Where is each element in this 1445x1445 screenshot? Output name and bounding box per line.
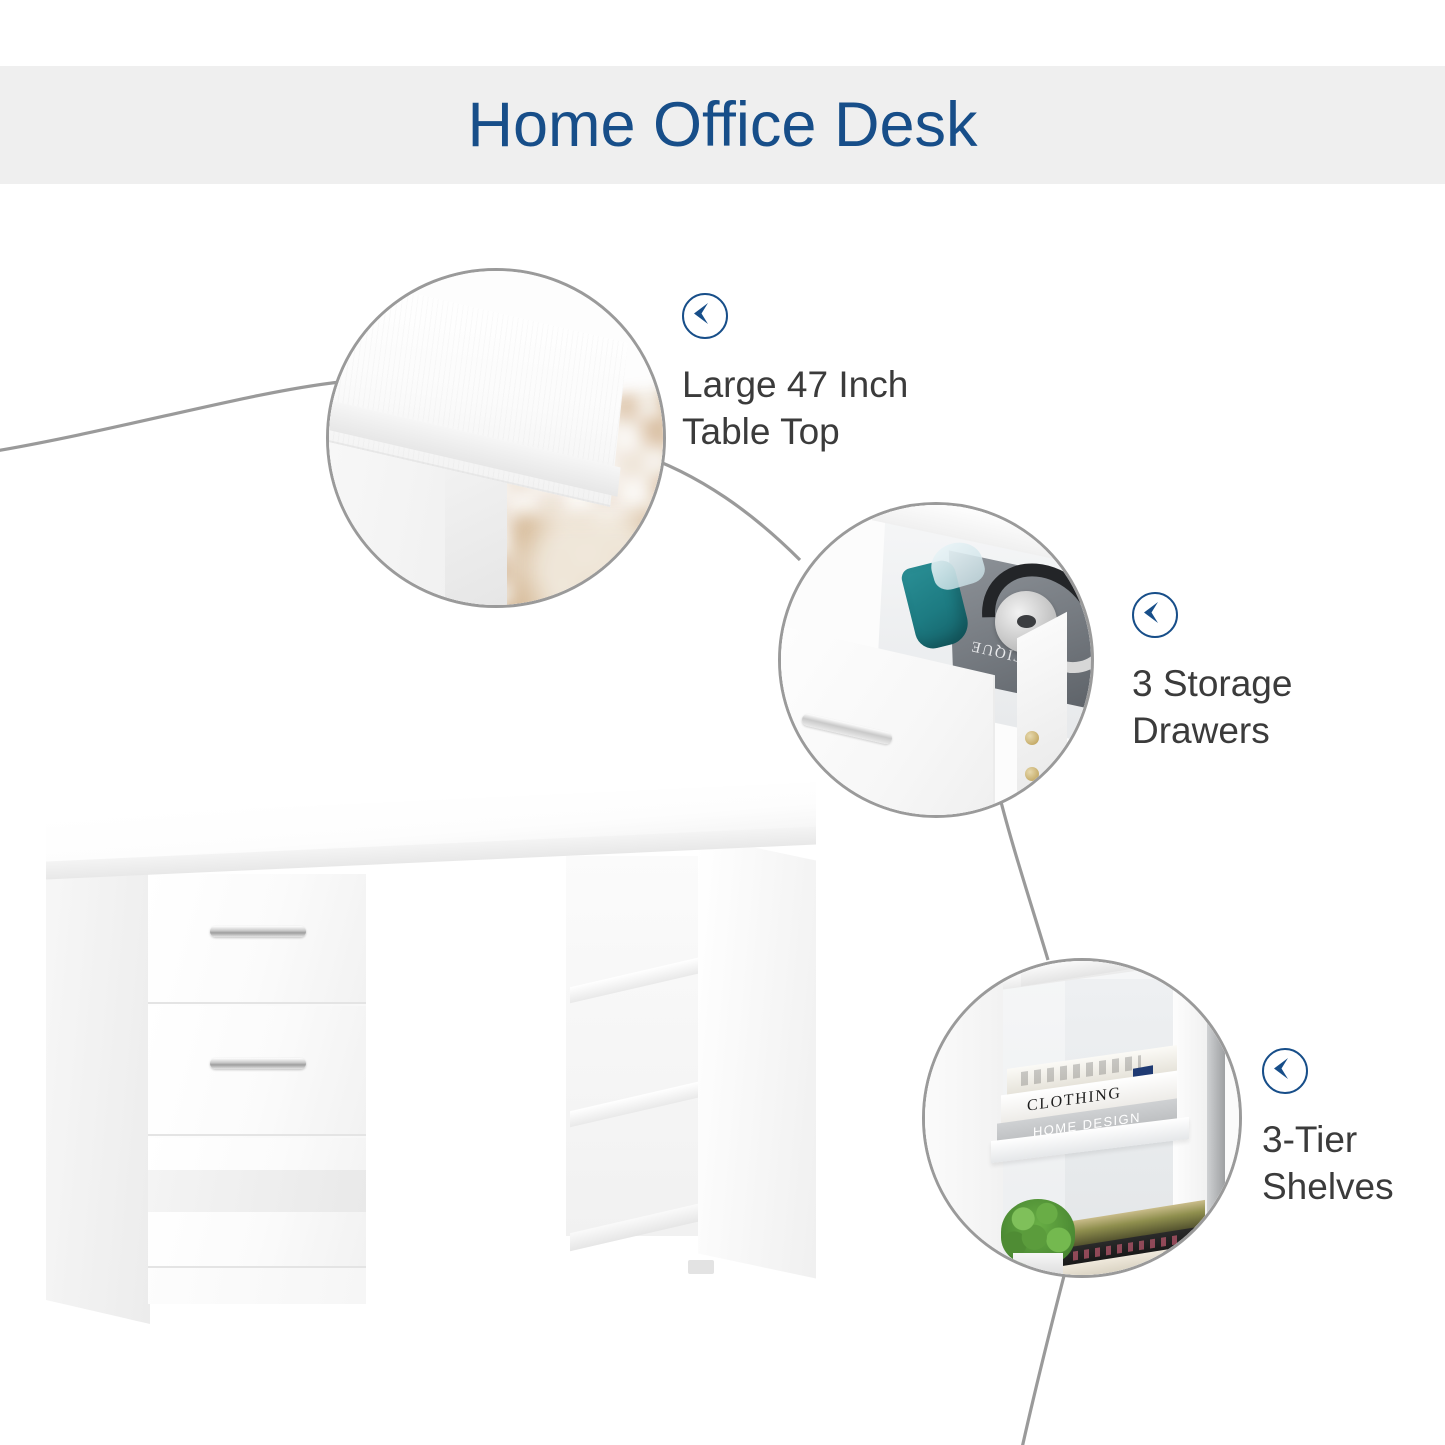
header-banner: Home Office Desk: [0, 66, 1445, 184]
product-image-desk: [28, 770, 838, 1340]
shelf-right-shadow: [1207, 1005, 1225, 1235]
open-drawer-photo-content: ANTIQUE: [781, 505, 1091, 815]
cabinet-screw: [1025, 767, 1039, 781]
detail-photo-shelves: CLOTHING HOME DESIGN: [922, 958, 1242, 1278]
drawer-top: [148, 874, 366, 1004]
desk-drawer-column: [148, 874, 366, 1304]
cabinet-screw: [1025, 731, 1039, 745]
desk-plinth: [148, 1170, 366, 1212]
connector-left-to-circle1: [0, 382, 340, 452]
arrow-left-circle-icon: [1132, 592, 1178, 638]
table-top-photo-content: [329, 271, 663, 605]
desk-foot: [688, 1260, 714, 1274]
desk-left-side-panel: [46, 820, 150, 1324]
drawer-middle: [148, 1006, 366, 1136]
arrow-left-circle-icon: [682, 293, 728, 339]
callout-table-top-label: Large 47 Inch Table Top: [682, 361, 908, 456]
callout-table-top: Large 47 Inch Table Top: [682, 293, 908, 456]
callout-tier-shelves-label: 3-Tier Shelves: [1262, 1116, 1394, 1211]
shelf-unit-right-panel: [698, 835, 816, 1278]
drawer-handle: [210, 1058, 306, 1069]
arrow-left-circle-icon: [1262, 1048, 1308, 1094]
callout-storage-drawers-label: 3 Storage Drawers: [1132, 660, 1292, 755]
desk-shelf-unit: [566, 856, 816, 1276]
callout-tier-shelves: 3-Tier Shelves: [1262, 1048, 1394, 1211]
shelf-left-panel: [925, 961, 1003, 1275]
shelf-unit-back: [566, 856, 704, 1236]
blurred-fabric-highlight: [513, 515, 663, 605]
connector-circle3-to-bottom: [1022, 1272, 1065, 1445]
shelves-photo-content: CLOTHING HOME DESIGN: [925, 961, 1239, 1275]
callout-storage-drawers: 3 Storage Drawers: [1132, 592, 1292, 755]
page-title: Home Office Desk: [468, 94, 978, 157]
drawer-right-side: [1017, 612, 1067, 815]
detail-photo-table-top-corner: [326, 268, 666, 608]
plant-pot: [1013, 1253, 1063, 1275]
drawer-handle: [210, 926, 306, 937]
infographic-page: Home Office Desk Large 47 Inch Table Top: [0, 0, 1445, 1445]
